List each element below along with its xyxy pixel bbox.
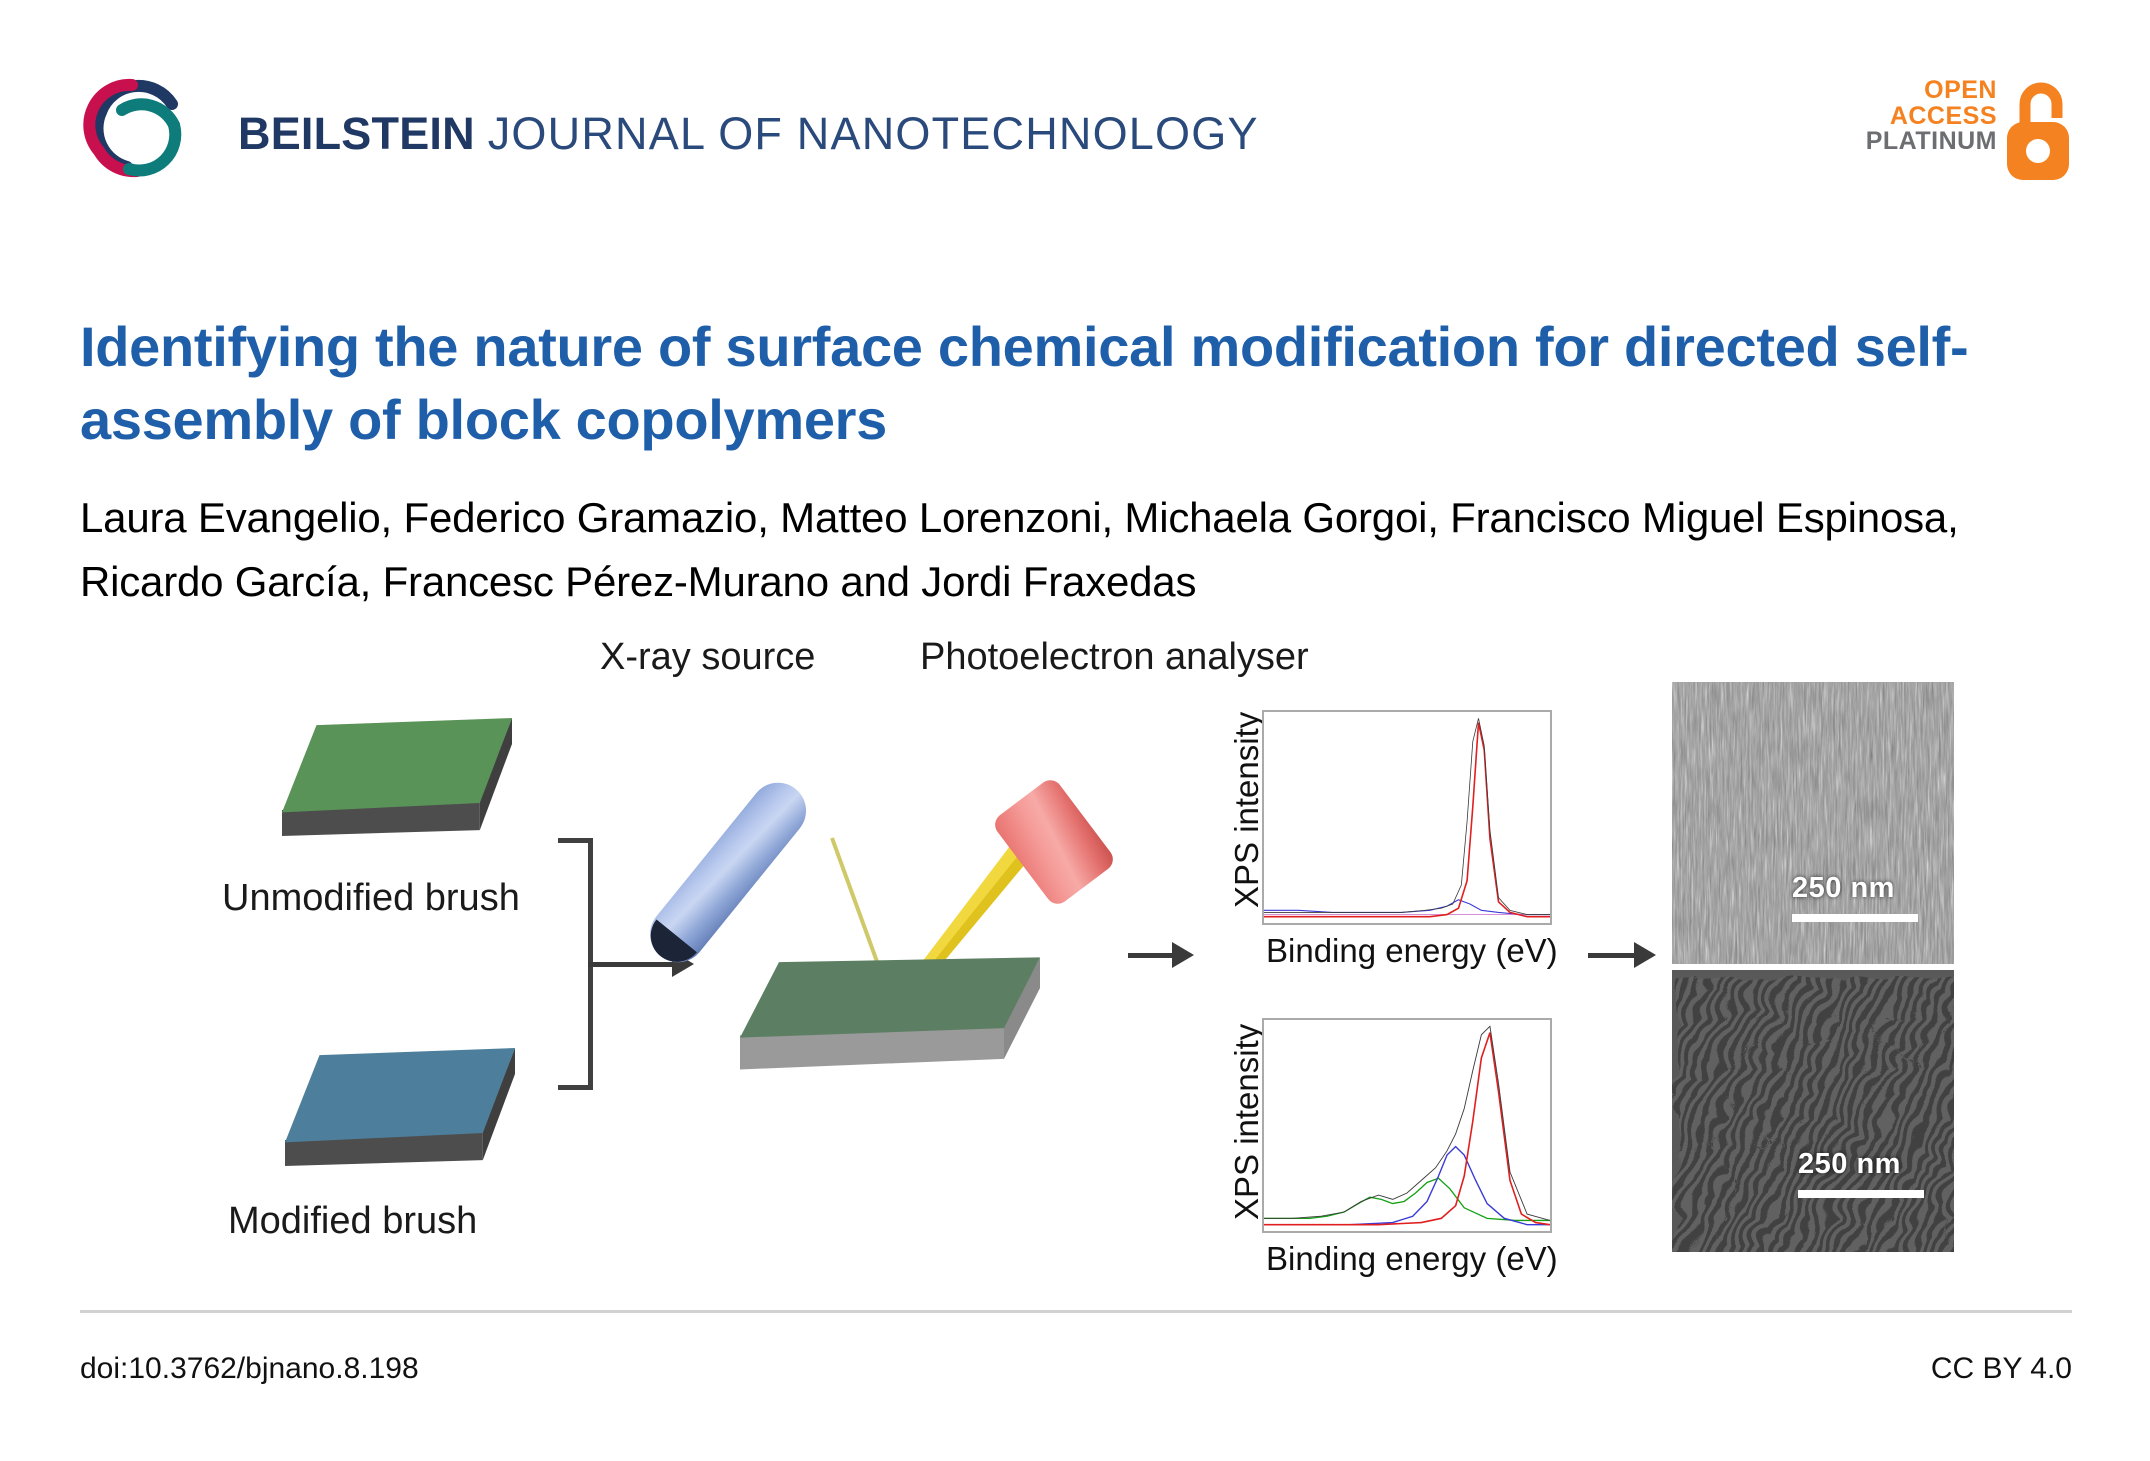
- xray-source-label: X-ray source: [600, 636, 815, 679]
- article-authors: Laura Evangelio, Federico Gramazio, Matt…: [80, 486, 2090, 614]
- open-access-badge: OPEN ACCESS PLATINUM: [1870, 76, 2075, 186]
- article-title: Identifying the nature of surface chemic…: [80, 310, 2020, 457]
- oa-line-open: OPEN: [1866, 78, 1997, 104]
- xps-unmodified-ylabel: XPS intensity: [1228, 712, 1266, 908]
- xray-source-tube: [639, 771, 818, 973]
- footer-license: CC BY 4.0: [1931, 1352, 2072, 1386]
- open-padlock-icon: [2001, 78, 2075, 182]
- sem-top-scalebar-label: 250 nm: [1792, 872, 1895, 905]
- sem-bottom-scalebar-line: [1798, 1190, 1924, 1198]
- xps-modified-frame: [1262, 1018, 1552, 1233]
- journal-title: BEILSTEIN JOURNAL OF NANOTECHNOLOGY: [238, 108, 1259, 160]
- photoelectron-analyser-label-text: Photoelectron analyser: [920, 636, 1309, 678]
- xps-unmodified-xlabel: Binding energy (eV): [1266, 932, 1558, 970]
- journal-title-light: JOURNAL OF NANOTECHNOLOGY: [488, 108, 1259, 159]
- xps-modified-xlabel: Binding energy (eV): [1266, 1240, 1558, 1278]
- sem-image-pair: 250 nm 250 nm: [1672, 682, 1954, 1252]
- oa-line-access: ACCESS: [1866, 104, 1997, 130]
- oa-line-platinum: PLATINUM: [1866, 129, 1997, 155]
- graphical-abstract-page: BEILSTEIN JOURNAL OF NANOTECHNOLOGY OPEN…: [0, 0, 2150, 1461]
- journal-masthead: BEILSTEIN JOURNAL OF NANOTECHNOLOGY OPEN…: [0, 0, 2150, 230]
- sem-fingerprint-image: [1672, 970, 1954, 1252]
- journal-title-bold: BEILSTEIN: [238, 108, 475, 159]
- photoelectron-analyser-label: Photoelectron analyser: [920, 636, 1309, 679]
- beilstein-swirl-logo-icon: [75, 68, 190, 183]
- unmodified-brush-label: Unmodified brush: [222, 877, 520, 920]
- sem-top-scalebar-line: [1792, 914, 1918, 922]
- unmodified-brush-slab: [282, 718, 512, 836]
- footer-doi: doi:10.3762/bjnano.8.198: [80, 1352, 419, 1386]
- xps-modified-ylabel: XPS intensity: [1228, 1024, 1266, 1220]
- footer-divider: [80, 1310, 2072, 1313]
- sem-bottom-scalebar-label: 250 nm: [1798, 1148, 1901, 1181]
- modified-brush-slab: [285, 1048, 515, 1166]
- xps-unmodified-frame: [1262, 710, 1552, 925]
- open-access-wordmark: OPEN ACCESS PLATINUM: [1866, 78, 1997, 155]
- sample-stage: [740, 955, 1040, 1073]
- modified-brush-label: Modified brush: [228, 1200, 477, 1243]
